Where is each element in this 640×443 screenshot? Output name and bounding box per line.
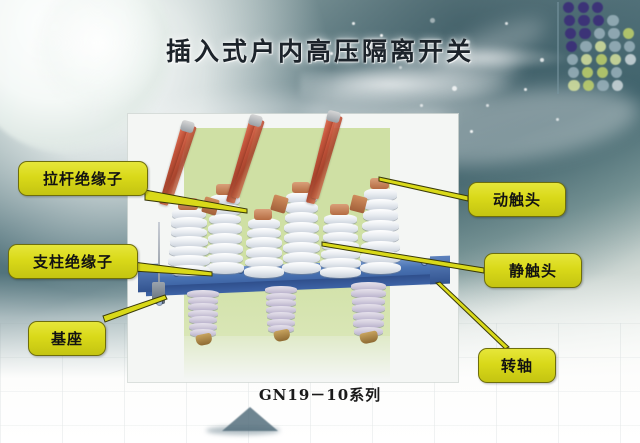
decor-dot bbox=[582, 67, 593, 78]
decor-dot bbox=[581, 54, 592, 65]
decor-dot bbox=[594, 28, 605, 39]
mountain-graphic bbox=[222, 407, 278, 431]
decor-dot bbox=[608, 28, 619, 39]
rotating-shaft-bolt bbox=[157, 300, 162, 305]
decor-dot bbox=[565, 28, 576, 39]
insulator-copper-cap bbox=[330, 204, 349, 215]
insulator-fin bbox=[168, 265, 211, 277]
decor-dot bbox=[563, 2, 574, 13]
decor-dot bbox=[607, 15, 618, 26]
decor-dot bbox=[580, 41, 591, 52]
callout-pull-rod-insulator[interactable]: 拉杆绝缘子 bbox=[18, 161, 148, 196]
decor-dot bbox=[610, 54, 621, 65]
decor-dot bbox=[564, 15, 575, 26]
star-dot bbox=[524, 88, 527, 91]
decor-dot bbox=[612, 80, 623, 91]
insulator-fin bbox=[320, 267, 361, 278]
operating-shaft-rod bbox=[158, 222, 160, 284]
star-dot bbox=[430, 18, 435, 23]
insulator-fin bbox=[360, 262, 402, 275]
decor-dot bbox=[609, 41, 620, 52]
hanging-insulator bbox=[268, 286, 294, 332]
callout-rotating-shaft[interactable]: 转轴 bbox=[478, 348, 556, 383]
callout-label: 基座 bbox=[51, 328, 83, 349]
decor-dot bbox=[624, 41, 635, 52]
product-photo bbox=[128, 114, 458, 382]
callout-base[interactable]: 基座 bbox=[28, 321, 106, 356]
callout-label: 支柱绝缘子 bbox=[33, 251, 113, 272]
callout-moving-contact[interactable]: 动触头 bbox=[468, 182, 566, 217]
hanging-insulator bbox=[190, 290, 216, 336]
star-dot bbox=[470, 130, 473, 133]
base-bolt bbox=[422, 260, 427, 265]
insulator-fin bbox=[244, 266, 284, 278]
callout-label: 转轴 bbox=[501, 355, 533, 376]
callout-label: 拉杆绝缘子 bbox=[43, 168, 123, 189]
star-dot bbox=[352, 22, 355, 25]
decor-dot bbox=[611, 67, 622, 78]
decor-dot bbox=[592, 2, 603, 13]
star-dot bbox=[420, 104, 423, 107]
page-title: 插入式户内高压隔离开关 bbox=[0, 32, 640, 68]
post-insulator-front bbox=[172, 208, 206, 274]
product-model-caption: GN19－10系列 bbox=[0, 384, 640, 405]
star-dot bbox=[556, 118, 559, 121]
hanging-insulator bbox=[354, 282, 383, 334]
post-insulator-front bbox=[248, 218, 280, 276]
decor-dot bbox=[593, 15, 604, 26]
decor-dot bbox=[568, 67, 579, 78]
decor-dot bbox=[583, 80, 594, 91]
decor-dot bbox=[597, 80, 608, 91]
post-insulator-front bbox=[324, 214, 357, 276]
callout-static-contact[interactable]: 静触头 bbox=[484, 253, 582, 288]
decor-dot bbox=[578, 2, 589, 13]
decor-dot bbox=[623, 28, 634, 39]
dot-grid-decoration bbox=[563, 2, 640, 98]
insulator-fin bbox=[206, 262, 244, 274]
slide-canvas: 插入式户内高压隔离开关 GN19－10系列 拉杆绝缘子 支柱绝缘子 bbox=[0, 0, 640, 443]
insulator-copper-cap bbox=[254, 209, 272, 220]
decor-vertical-rule bbox=[557, 2, 559, 94]
insulator-copper-cap bbox=[370, 178, 389, 189]
insulator-copper-cap bbox=[292, 182, 310, 193]
decor-dot bbox=[579, 28, 590, 39]
callout-label: 静触头 bbox=[509, 260, 557, 281]
decor-dot bbox=[578, 15, 589, 26]
switch-base-end-right bbox=[430, 256, 450, 285]
decor-dot bbox=[597, 67, 608, 78]
callout-post-insulator[interactable]: 支柱绝缘子 bbox=[8, 244, 138, 279]
post-insulator-rear bbox=[364, 188, 397, 272]
insulator-fin bbox=[282, 262, 321, 274]
decor-dot bbox=[595, 41, 606, 52]
decor-dot bbox=[567, 54, 578, 65]
callout-label: 动触头 bbox=[493, 189, 541, 210]
decor-dot bbox=[625, 54, 636, 65]
decor-dot bbox=[596, 54, 607, 65]
decor-dot bbox=[566, 41, 577, 52]
insulator-copper-cap bbox=[178, 198, 198, 210]
decor-dot bbox=[568, 80, 579, 91]
